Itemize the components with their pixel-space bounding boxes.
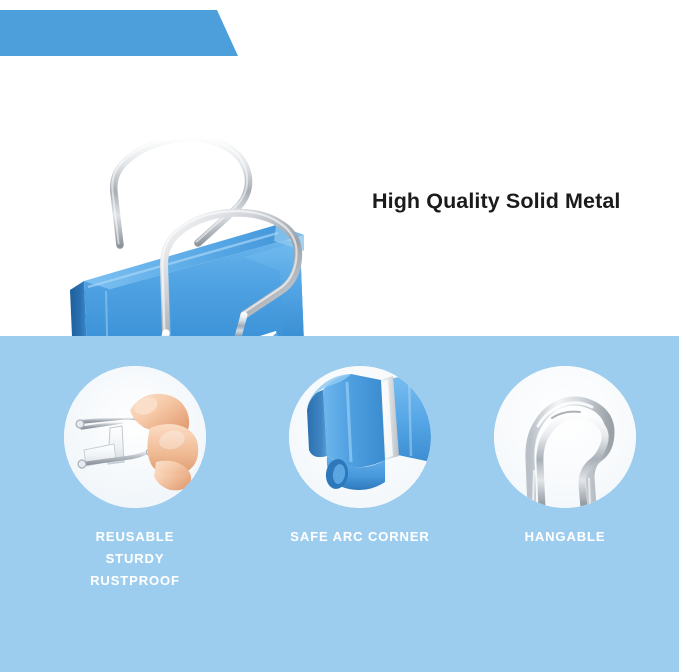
caption-line: STURDY	[35, 548, 235, 570]
feature-item-arc-corner: SAFE ARC CORNER	[260, 336, 460, 548]
caption-line: RUSTPROOF	[35, 570, 235, 592]
hero-headline: High Quality Solid Metal	[372, 189, 620, 214]
caption-line: REUSABLE	[35, 526, 235, 548]
caption-line: HANGABLE	[465, 526, 665, 548]
hero-product-image	[48, 75, 348, 336]
caption-line: SAFE ARC CORNER	[260, 526, 460, 548]
features-section: REUSABLE STURDY RUSTPROOF	[0, 336, 679, 672]
feature-item-reusable: REUSABLE STURDY RUSTPROOF	[35, 336, 235, 592]
feature-item-hangable: HANGABLE	[465, 336, 665, 548]
feature-image-hangable	[494, 366, 636, 508]
section-banner	[0, 10, 238, 56]
feature-image-arc-corner	[289, 366, 431, 508]
feature-caption-arc-corner: SAFE ARC CORNER	[260, 526, 460, 548]
feature-caption-hangable: HANGABLE	[465, 526, 665, 548]
feature-image-reusable	[64, 366, 206, 508]
product-infographic: MORE DETAS	[0, 0, 679, 672]
feature-caption-reusable: REUSABLE STURDY RUSTPROOF	[35, 526, 235, 592]
top-section: MORE DETAS	[0, 0, 679, 336]
